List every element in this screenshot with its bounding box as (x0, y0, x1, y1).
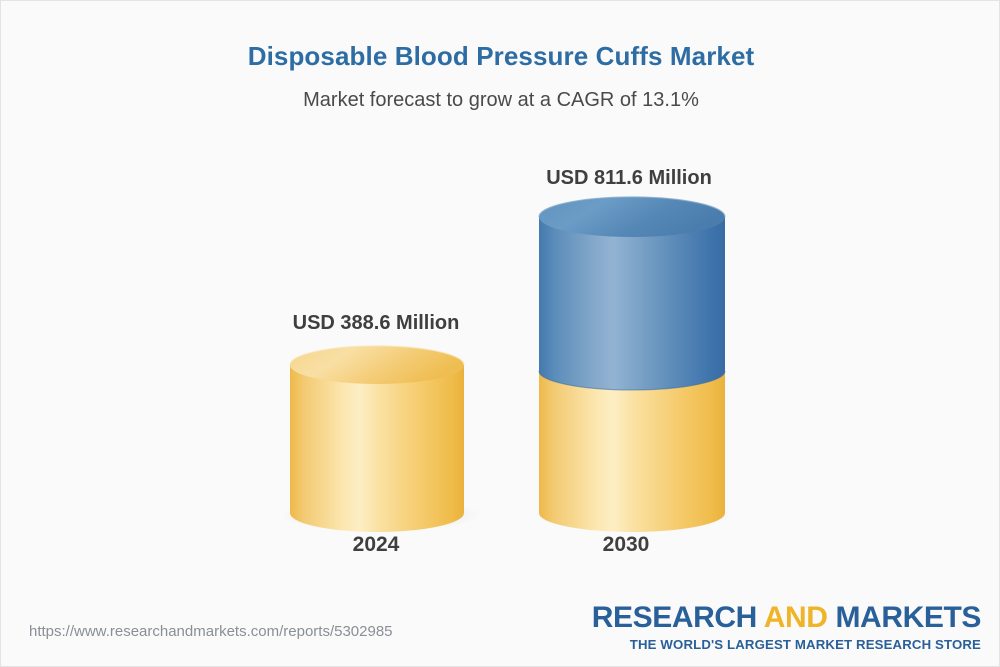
bar-value-label-2030: USD 811.6 Million (469, 167, 789, 190)
research-and-markets-logo[interactable]: RESEARCH AND MARKETS THE WORLD'S LARGEST… (592, 603, 981, 651)
logo-word-markets: MARKETS (828, 601, 981, 634)
bar-value-label-2024: USD 388.6 Million (216, 312, 536, 335)
report-url[interactable]: https://www.researchandmarkets.com/repor… (29, 623, 393, 640)
bar-2030[interactable] (532, 197, 732, 532)
bar-2030-segment-base (539, 371, 725, 532)
chart-canvas: Disposable Blood Pressure Cuffs Market M… (0, 0, 1000, 667)
logo-tagline: THE WORLD'S LARGEST MARKET RESEARCH STOR… (592, 638, 981, 651)
logo-word-and: AND (764, 601, 828, 634)
bar-2024[interactable] (280, 346, 480, 532)
logo-wordmark: RESEARCH AND MARKETS (592, 603, 981, 633)
bar-2024-body (290, 365, 464, 532)
logo-word-research: RESEARCH (592, 601, 764, 634)
bar-chart-plot (1, 1, 1000, 601)
bar-2030-segment-growth (539, 217, 725, 390)
axis-label-2030: 2030 (466, 533, 786, 557)
